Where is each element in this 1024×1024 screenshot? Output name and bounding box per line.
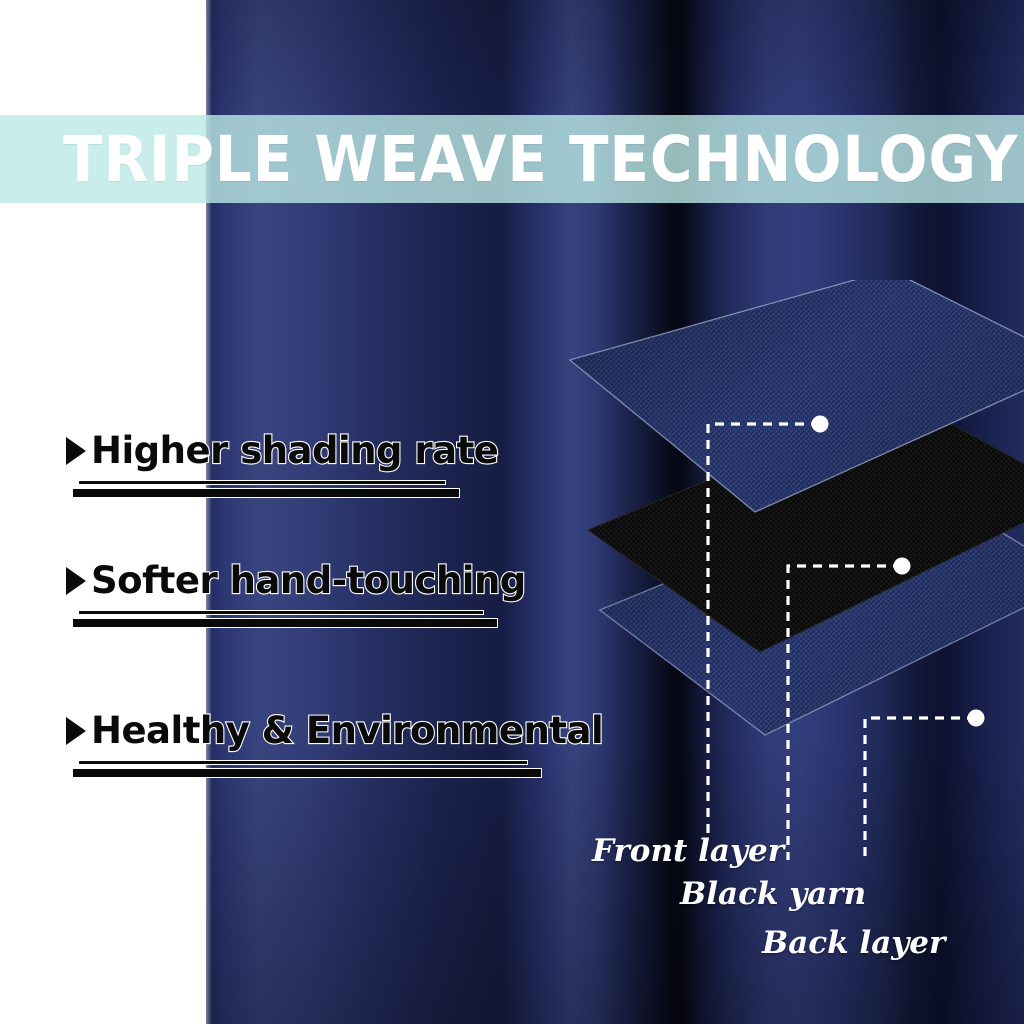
callout-label-back-layer: Back layer [762, 928, 945, 959]
feature-3-line: Healthy & Environmental [66, 712, 603, 751]
underline-thick-bar [72, 488, 460, 498]
callout-label-black-yarn: Black yarn [680, 879, 866, 910]
triangle-bullet-icon [66, 567, 86, 595]
underline-thin-bar [78, 480, 446, 485]
underline-thin-bar [78, 760, 528, 765]
feature-1-line: Higher shading rate [66, 432, 498, 471]
feature-item-1: Higher shading rate [66, 432, 498, 498]
feature-1-label: Higher shading rate [91, 432, 498, 471]
leader-dot-front [812, 416, 829, 433]
feature-3-underline-bars [66, 760, 603, 778]
headline-text: TRIPLE WEAVE TECHNOLOGY [63, 128, 1019, 191]
feature-1-underline-bars [66, 480, 498, 498]
triangle-bullet-icon [66, 717, 86, 745]
leader-line-back [865, 718, 976, 860]
underline-thin-bar [78, 610, 484, 615]
feature-item-3: Healthy & Environmental [66, 712, 603, 778]
product-feature-image: TRIPLE WEAVE TECHNOLOGY Higher shading r… [0, 0, 1024, 1024]
underline-thick-bar [72, 618, 498, 628]
feature-2-line: Softer hand-touching [66, 562, 526, 601]
underline-thick-bar [72, 768, 542, 778]
leader-dot-back [968, 710, 985, 727]
callout-label-front-layer: Front layer [592, 836, 784, 867]
feature-3-label: Healthy & Environmental [91, 712, 603, 751]
feature-2-label: Softer hand-touching [91, 562, 526, 601]
feature-2-underline-bars [66, 610, 526, 628]
layer-diagram [560, 280, 1024, 860]
leader-dot-black-yarn [894, 558, 911, 575]
feature-item-2: Softer hand-touching [66, 562, 526, 628]
triangle-bullet-icon [66, 437, 86, 465]
headline-banner: TRIPLE WEAVE TECHNOLOGY [0, 115, 1024, 203]
